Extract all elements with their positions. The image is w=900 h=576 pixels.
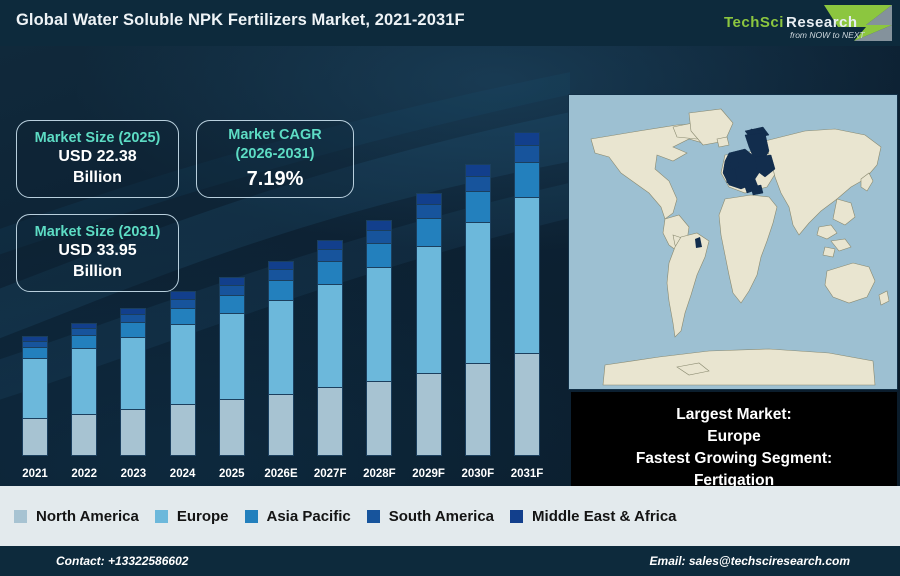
x-axis-label-2029F: 2029F [406, 468, 452, 480]
x-axis-label-2021: 2021 [12, 468, 58, 480]
bar-segment-asia-pacific [219, 295, 245, 314]
bar-segment-europe [465, 222, 491, 364]
footer-bar: Contact: +13322586602 Email: sales@techs… [0, 546, 900, 576]
x-axis-label-2024: 2024 [160, 468, 206, 480]
bar-2027F [317, 241, 343, 456]
bar-segment-north-america [170, 404, 196, 456]
svg-text:TechSci: TechSci [724, 14, 784, 31]
key-insights-box: Largest Market: Europe Fastest Growing S… [571, 392, 897, 486]
footer-email: Email: sales@techsciresearch.com [650, 554, 850, 568]
bar-segment-middle-east-africa [514, 132, 540, 146]
bar-segment-north-america [22, 418, 48, 457]
infographic-root: Global Water Soluble NPK Fertilizers Mar… [0, 0, 900, 576]
legend-swatch-icon [245, 510, 258, 523]
x-axis-label-2025: 2025 [209, 468, 255, 480]
bar-segment-north-america [71, 414, 97, 456]
bar-segment-north-america [465, 363, 491, 456]
bar-segment-north-america [366, 381, 392, 456]
bar-segment-north-america [219, 399, 245, 456]
bar-2022 [71, 324, 97, 456]
bar-segment-asia-pacific [416, 218, 442, 247]
largest-market-label: Largest Market: [676, 404, 791, 426]
bar-2026E [268, 262, 294, 456]
legend-item-europe[interactable]: Europe [155, 508, 229, 525]
legend-label: Middle East & Africa [532, 508, 676, 525]
bar-segment-asia-pacific [71, 335, 97, 349]
legend-swatch-icon [14, 510, 27, 523]
chart-legend: North AmericaEuropeAsia PacificSouth Ame… [0, 486, 900, 546]
techsci-research-logo: TechSci Research from NOW to NEXT [716, 1, 898, 45]
bar-segment-europe [366, 267, 392, 382]
bar-segment-north-america [120, 409, 146, 456]
bar-segment-europe [416, 246, 442, 373]
legend-label: North America [36, 508, 139, 525]
bar-2031F [514, 133, 540, 456]
footer-contact: Contact: +13322586602 [56, 554, 188, 568]
header-bar: Global Water Soluble NPK Fertilizers Mar… [0, 0, 900, 46]
bar-segment-asia-pacific [268, 280, 294, 301]
x-axis-label-2023: 2023 [110, 468, 156, 480]
x-axis-label-2026E: 2026E [258, 468, 304, 480]
bar-segment-europe [514, 197, 540, 355]
bar-segment-europe [219, 313, 245, 400]
bar-segment-north-america [416, 373, 442, 456]
largest-market-value: Europe [707, 426, 760, 448]
bar-segment-north-america [514, 353, 540, 456]
bar-2028F [366, 221, 392, 456]
legend-item-asia-pacific[interactable]: Asia Pacific [245, 508, 351, 525]
page-title: Global Water Soluble NPK Fertilizers Mar… [16, 11, 465, 30]
chart-x-axis: 202120222023202420252026E2027F2028F2029F… [0, 460, 570, 480]
bar-segment-asia-pacific [465, 191, 491, 223]
legend-item-north-america[interactable]: North America [14, 508, 139, 525]
svg-text:from NOW to NEXT: from NOW to NEXT [790, 30, 865, 40]
main-canvas: Market Size (2025) USD 22.38 Billion Mar… [0, 46, 900, 486]
legend-item-middle-east-africa[interactable]: Middle East & Africa [510, 508, 676, 525]
bar-segment-asia-pacific [170, 308, 196, 325]
x-axis-label-2031F: 2031F [504, 468, 550, 480]
bar-2023 [120, 309, 146, 456]
bar-segment-asia-pacific [514, 162, 540, 198]
legend-swatch-icon [155, 510, 168, 523]
bar-segment-europe [268, 300, 294, 394]
bar-2029F [416, 194, 442, 456]
bar-segment-south-america [416, 204, 442, 219]
stacked-bar-chart: 202120222023202420252026E2027F2028F2029F… [0, 46, 570, 486]
bar-segment-europe [71, 348, 97, 415]
bar-segment-europe [317, 284, 343, 389]
bar-2030F [465, 165, 491, 456]
x-axis-label-2028F: 2028F [356, 468, 402, 480]
fastest-segment-value: Fertigation [694, 470, 774, 486]
legend-item-south-america[interactable]: South America [367, 508, 494, 525]
bar-2021 [22, 337, 48, 456]
bar-segment-asia-pacific [317, 261, 343, 285]
bar-segment-europe [22, 358, 48, 419]
bar-segment-north-america [268, 394, 294, 456]
bar-2024 [170, 292, 196, 456]
bar-segment-south-america [366, 230, 392, 244]
x-axis-label-2027F: 2027F [307, 468, 353, 480]
legend-label: South America [389, 508, 494, 525]
bar-segment-europe [170, 324, 196, 405]
fastest-segment-label: Fastest Growing Segment: [636, 448, 832, 470]
world-map-svg [569, 95, 898, 390]
x-axis-label-2022: 2022 [61, 468, 107, 480]
bar-2025 [219, 278, 245, 456]
legend-swatch-icon [367, 510, 380, 523]
bar-segment-asia-pacific [120, 322, 146, 338]
bar-segment-asia-pacific [366, 243, 392, 269]
bar-segment-north-america [317, 387, 343, 456]
legend-label: Asia Pacific [267, 508, 351, 525]
x-axis-label-2030F: 2030F [455, 468, 501, 480]
world-map-panel [568, 94, 898, 390]
svg-text:Research: Research [786, 14, 858, 31]
bar-segment-europe [120, 337, 146, 410]
legend-swatch-icon [510, 510, 523, 523]
legend-label: Europe [177, 508, 229, 525]
bar-segment-south-america [514, 145, 540, 163]
bar-segment-south-america [465, 176, 491, 193]
